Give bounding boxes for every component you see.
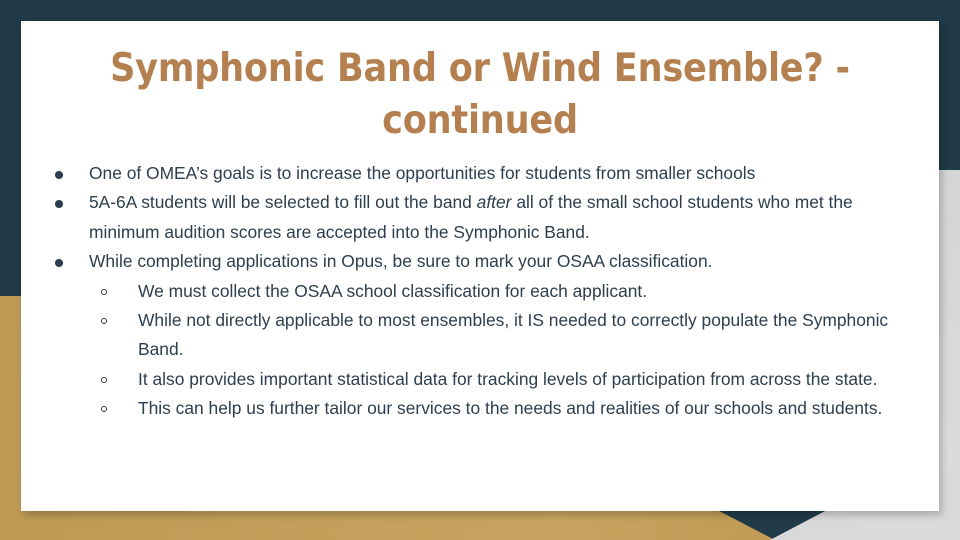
sub-bullet-item-1: We must collect the OSAA school classifi… xyxy=(89,277,917,306)
bullet-list-level-2: We must collect the OSAA school classifi… xyxy=(89,277,917,424)
hollow-bullet-icon xyxy=(101,365,110,394)
filled-bullet-icon xyxy=(55,188,64,217)
bullet-item-2-emphasis: after xyxy=(477,192,512,212)
bullet-item-3-text: While completing applications in Opus, b… xyxy=(89,247,917,276)
bullet-item-3: While completing applications in Opus, b… xyxy=(35,247,917,423)
bullet-item-2-text-before: 5A-6A students will be selected to fill … xyxy=(89,192,477,212)
filled-bullet-icon xyxy=(55,247,64,276)
sub-bullet-item-1-text: We must collect the OSAA school classifi… xyxy=(138,281,647,301)
bullet-item-2: 5A-6A students will be selected to fill … xyxy=(35,188,917,247)
sub-bullet-item-2: While not directly applicable to most en… xyxy=(89,306,917,365)
hollow-bullet-icon xyxy=(101,394,110,423)
sub-bullet-item-3-text: It also provides important statistical d… xyxy=(138,369,877,389)
hollow-bullet-icon xyxy=(101,306,110,335)
sub-bullet-item-3: It also provides important statistical d… xyxy=(89,365,917,394)
sub-bullet-item-2-text: While not directly applicable to most en… xyxy=(138,310,888,359)
slide-title-line-2: continued xyxy=(382,98,578,143)
bullet-item-2-text: 5A-6A students will be selected to fill … xyxy=(89,188,917,247)
bullet-item-1-text: One of OMEA’s goals is to increase the o… xyxy=(89,159,917,188)
sub-bullet-item-4-text: This can help us further tailor our serv… xyxy=(138,398,882,418)
bullet-list-level-1: One of OMEA’s goals is to increase the o… xyxy=(35,159,917,424)
presentation-slide: Symphonic Band or Wind Ensemble? - conti… xyxy=(0,0,960,540)
sub-bullet-item-4: This can help us further tailor our serv… xyxy=(89,394,917,423)
slide-title-line-1: Symphonic Band or Wind Ensemble? - xyxy=(110,46,850,91)
slide-body: One of OMEA’s goals is to increase the o… xyxy=(21,147,939,424)
filled-bullet-icon xyxy=(55,159,64,188)
slide-title: Symphonic Band or Wind Ensemble? - conti… xyxy=(21,21,939,147)
hollow-bullet-icon xyxy=(101,277,110,306)
bullet-item-1: One of OMEA’s goals is to increase the o… xyxy=(35,159,917,188)
nested-bullet-wrapper: We must collect the OSAA school classifi… xyxy=(89,277,917,424)
slide-content-card: Symphonic Band or Wind Ensemble? - conti… xyxy=(21,21,939,511)
